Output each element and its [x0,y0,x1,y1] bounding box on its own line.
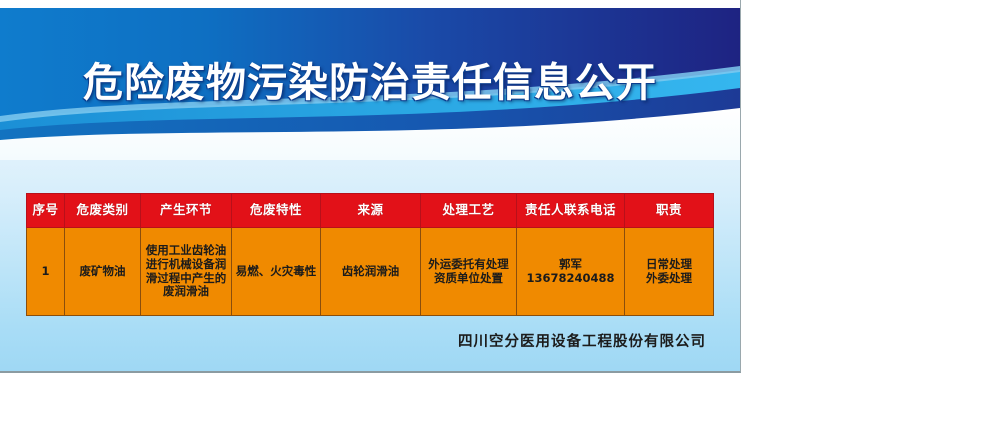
column-header-contact: 责任人联系电话 [517,194,625,228]
column-header-stage: 产生环节 [141,194,232,228]
cell-contact: 郭军 13678240488 [517,228,625,316]
contact-name: 郭军 [519,258,622,272]
cell-duty: 日常处理 外委处理 [625,228,714,316]
column-header-duty: 职责 [625,194,714,228]
page-title: 危险废物污染防治责任信息公开 [0,50,740,108]
banner: 危险废物污染防治责任信息公开 [0,8,740,160]
cell-process: 外运委托有处理资质单位处置 [421,228,517,316]
column-header-property: 危废特性 [232,194,321,228]
contact-phone: 13678240488 [519,272,622,286]
table-header-row: 序号 危废类别 产生环节 危废特性 来源 处理工艺 责任人联系电话 职责 [27,194,714,228]
cell-source: 齿轮润滑油 [321,228,421,316]
column-header-category: 危废类别 [65,194,141,228]
poster-canvas: 危险废物污染防治责任信息公开 序号 危废类别 产生环节 危废特性 来源 处理工艺… [0,0,741,373]
cell-index: 1 [27,228,65,316]
table-row: 1 废矿物油 使用工业齿轮油进行机械设备润滑过程中产生的废润滑油 易燃、火灾毒性… [27,228,714,316]
hazardous-waste-table: 序号 危废类别 产生环节 危废特性 来源 处理工艺 责任人联系电话 职责 1 废… [26,193,714,316]
company-name: 四川空分医用设备工程股份有限公司 [26,330,714,351]
column-header-source: 来源 [321,194,421,228]
column-header-index: 序号 [27,194,65,228]
cell-category: 废矿物油 [65,228,141,316]
cell-stage: 使用工业齿轮油进行机械设备润滑过程中产生的废润滑油 [141,228,232,316]
cell-property: 易燃、火灾毒性 [232,228,321,316]
column-header-process: 处理工艺 [421,194,517,228]
